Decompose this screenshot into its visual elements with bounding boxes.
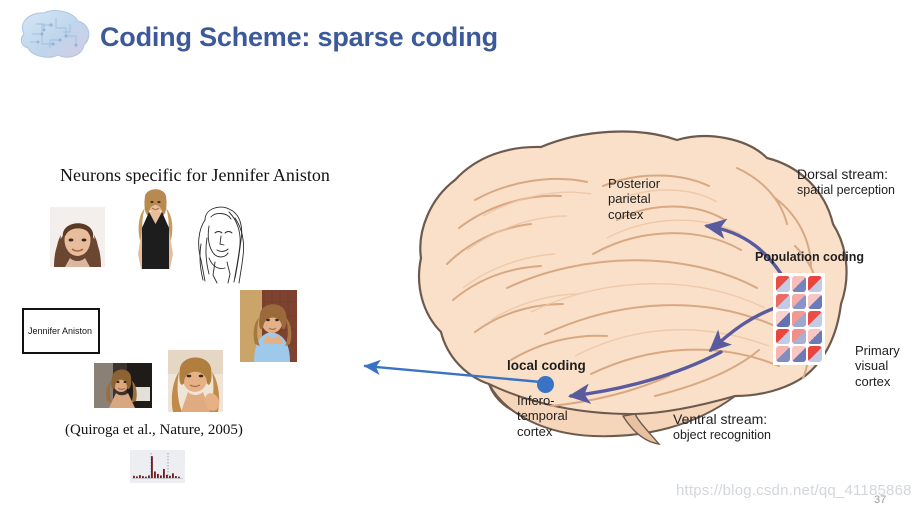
label-population-coding: Population coding [755, 250, 864, 265]
aniston-blue-top-photo [240, 290, 297, 362]
population-coding-grid [773, 273, 825, 365]
page-number: 37 [874, 494, 886, 506]
aniston-scene-photo [94, 363, 152, 408]
label-posterior-parietal-cortex: Posterior parietal cortex [608, 176, 660, 222]
label-local-coding: local coding [507, 358, 586, 374]
citation: (Quiroga et al., Nature, 2005) [65, 422, 243, 439]
population-cell [808, 276, 822, 292]
population-cell [808, 311, 822, 327]
text-stimulus-box: Jennifer Aniston [22, 308, 100, 354]
population-cell [792, 329, 806, 345]
aniston-black-dress-photo [128, 184, 183, 269]
population-cell [792, 311, 806, 327]
population-cell [808, 294, 822, 310]
population-cell [808, 329, 822, 345]
population-cell [792, 276, 806, 292]
population-cell [776, 329, 790, 345]
population-cell [792, 294, 806, 310]
population-cell [776, 294, 790, 310]
jennifer-aniston-stimuli-panel: Neurons specific for Jennifer Aniston [0, 150, 360, 470]
text-stimulus-label: Jennifer Aniston [28, 326, 92, 336]
label-dorsal-stream: Dorsal stream: spatial perception [797, 166, 895, 197]
aniston-headshot-photo [50, 207, 105, 267]
aniston-line-drawing [185, 200, 255, 285]
left-panel-heading: Neurons specific for Jennifer Aniston [60, 165, 330, 186]
spike-histogram [130, 450, 185, 483]
label-inferotemporal-cortex: Infero- temporal cortex [517, 393, 568, 439]
brain-diagram: Posterior parietal cortex Dorsal stream:… [355, 128, 922, 478]
population-cell [776, 311, 790, 327]
label-ventral-stream: Ventral stream: object recognition [673, 411, 771, 442]
brain-circuit-logo-icon [6, 4, 98, 64]
population-cell [808, 346, 822, 362]
population-cell [776, 346, 790, 362]
aniston-closeup-photo [168, 350, 223, 412]
population-cell [776, 276, 790, 292]
population-cell [792, 346, 806, 362]
page-title: Coding Scheme: sparse coding [100, 22, 498, 53]
local-coding-dot [537, 376, 554, 393]
label-primary-visual-cortex: Primary visual cortex [855, 343, 900, 389]
